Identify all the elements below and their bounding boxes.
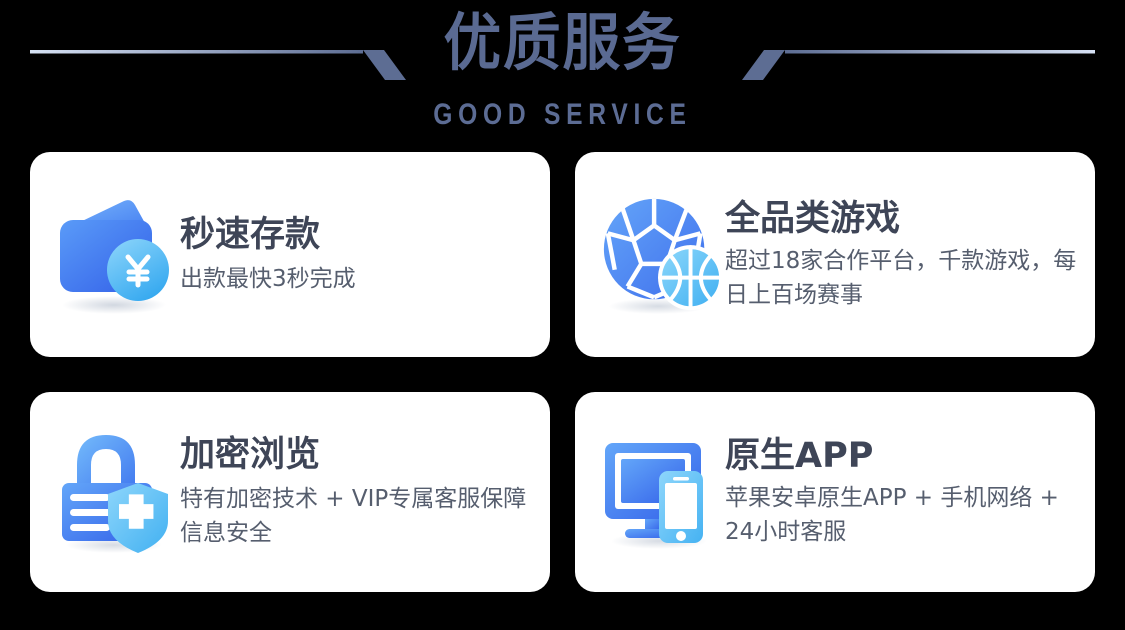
card-text-block: 原生APP 苹果安卓原生APP + 手机网络 + 24小时客服 <box>725 435 1095 549</box>
page-subtitle: GOOD SERVICE <box>101 98 1024 132</box>
card-title: 加密浏览 <box>180 434 534 476</box>
card-description: 超过18家合作平台，千款游戏，每日上百场赛事 <box>725 244 1079 312</box>
card-description: 苹果安卓原生APP + 手机网络 + 24小时客服 <box>725 481 1079 549</box>
soccer-basketball-icon <box>575 152 725 357</box>
page-header: 优质服务 GOOD SERVICE <box>0 0 1125 150</box>
service-card-deposit[interactable]: 秒速存款 出款最快3秒完成 <box>30 152 550 357</box>
card-text-block: 加密浏览 特有加密技术 + VIP专属客服保障信息安全 <box>180 434 550 550</box>
card-description: 特有加密技术 + VIP专属客服保障信息安全 <box>180 482 534 550</box>
service-card-grid: 秒速存款 出款最快3秒完成 <box>30 152 1095 592</box>
page-title: 优质服务 <box>39 6 1085 80</box>
card-title: 秒速存款 <box>180 214 534 256</box>
card-title: 全品类游戏 <box>725 198 1079 240</box>
card-text-block: 秒速存款 出款最快3秒完成 <box>180 214 550 296</box>
service-card-native-app[interactable]: 原生APP 苹果安卓原生APP + 手机网络 + 24小时客服 <box>575 392 1095 592</box>
card-description: 出款最快3秒完成 <box>180 262 534 296</box>
service-card-games[interactable]: 全品类游戏 超过18家合作平台，千款游戏，每日上百场赛事 <box>575 152 1095 357</box>
service-card-encryption[interactable]: 加密浏览 特有加密技术 + VIP专属客服保障信息安全 <box>30 392 550 592</box>
card-title: 原生APP <box>725 435 1079 477</box>
monitor-phone-icon <box>575 392 725 592</box>
lock-shield-icon <box>30 392 180 592</box>
card-text-block: 全品类游戏 超过18家合作平台，千款游戏，每日上百场赛事 <box>725 198 1095 312</box>
wallet-yen-icon <box>30 152 180 357</box>
